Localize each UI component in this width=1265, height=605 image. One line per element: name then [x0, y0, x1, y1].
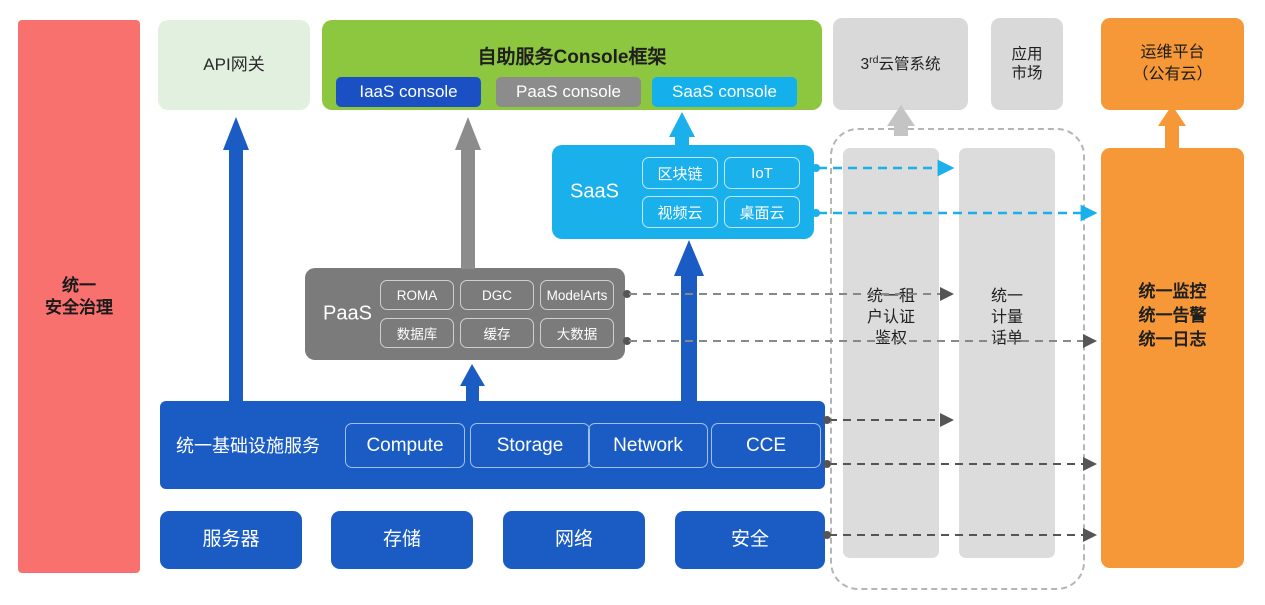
paas-item-dgc[interactable]: DGC	[460, 280, 534, 310]
paas-item-dgc-label: DGC	[482, 288, 512, 303]
saas-item-iot[interactable]: IoT	[724, 157, 800, 189]
infra-item-storage[interactable]: Storage	[470, 423, 590, 468]
app-market-label: 应用 市场	[1011, 45, 1042, 84]
saas-item-video-cloud[interactable]: 视频云	[642, 196, 718, 228]
third-party-cloud-mgmt-label: 3rd云管系统	[860, 54, 940, 75]
saas-block: SaaS 区块链 IoT 视频云 桌面云	[552, 145, 814, 239]
console-frame-title: 自助服务Console框架	[322, 42, 822, 69]
paas-item-cache[interactable]: 缓存	[460, 318, 534, 348]
resource-box-storage-label: 存储	[383, 528, 421, 552]
unified-infrastructure-bar: 统一基础设施服务 Compute Storage Network CCE	[160, 401, 825, 489]
third-party-cloud-mgmt-box: 3rd云管系统	[833, 18, 968, 110]
self-service-console-frame: 自助服务Console框架 IaaS console PaaS console …	[322, 20, 822, 110]
paas-item-bigdata[interactable]: 大数据	[540, 318, 614, 348]
ops-platform-box: 运维平台 （公有云）	[1101, 18, 1244, 110]
api-gateway-label: API网关	[203, 54, 264, 75]
resource-box-security-label: 安全	[731, 528, 769, 552]
resource-box-server-label: 服务器	[202, 528, 259, 552]
app-market-box: 应用 市场	[991, 18, 1063, 110]
unified-auth-label: 统一租 户认证 鉴权	[843, 286, 939, 349]
infra-item-cce[interactable]: CCE	[711, 423, 821, 468]
arrow-saas-to-saas-console	[669, 112, 695, 148]
ops-platform-label: 运维平台 （公有云）	[1132, 42, 1212, 85]
arrow-infra-to-saas	[674, 240, 704, 402]
resource-box-server[interactable]: 服务器	[160, 511, 302, 569]
ops-monitoring-label: 统一监控 统一告警 统一日志	[1101, 280, 1244, 351]
saas-item-video-cloud-label: 视频云	[657, 202, 702, 223]
paas-console-label: PaaS console	[516, 82, 621, 102]
infra-item-network[interactable]: Network	[588, 423, 708, 468]
paas-item-modelarts-label: ModelArts	[547, 288, 608, 303]
saas-block-label: SaaS	[570, 181, 619, 204]
paas-item-database[interactable]: 数据库	[380, 318, 454, 348]
resource-box-network[interactable]: 网络	[503, 511, 645, 569]
unified-billing-column: 统一 计量 话单	[959, 148, 1055, 558]
saas-item-blockchain[interactable]: 区块链	[642, 157, 718, 189]
security-governance-label: 统一 安全治理	[45, 275, 113, 318]
paas-console-chip[interactable]: PaaS console	[496, 77, 641, 107]
paas-block-label: PaaS	[323, 303, 372, 326]
third-party-suffix: 云管系统	[878, 56, 940, 73]
paas-item-cache-label: 缓存	[484, 323, 511, 343]
resource-box-storage[interactable]: 存储	[331, 511, 473, 569]
arrow-paas-to-console	[455, 117, 481, 269]
architecture-diagram: 统一 安全治理 API网关 自助服务Console框架 IaaS console…	[0, 0, 1265, 605]
saas-item-desktop-cloud-label: 桌面云	[739, 202, 784, 223]
arrow-monitoring-to-ops-platform	[1158, 105, 1186, 148]
resource-box-security[interactable]: 安全	[675, 511, 825, 569]
infra-item-cce-label: CCE	[746, 435, 786, 457]
resource-box-network-label: 网络	[555, 528, 593, 552]
unified-infrastructure-label: 统一基础设施服务	[176, 432, 320, 458]
paas-block: PaaS ROMA DGC ModelArts 数据库 缓存 大数据	[305, 268, 625, 360]
paas-item-modelarts[interactable]: ModelArts	[540, 280, 614, 310]
paas-item-bigdata-label: 大数据	[557, 323, 598, 343]
saas-item-iot-label: IoT	[751, 165, 773, 182]
infra-item-storage-label: Storage	[497, 435, 564, 457]
saas-item-blockchain-label: 区块链	[657, 163, 702, 184]
api-gateway-box: API网关	[158, 20, 310, 110]
iaas-console-chip[interactable]: IaaS console	[336, 77, 481, 107]
ops-monitoring-box: 统一监控 统一告警 统一日志	[1101, 148, 1244, 568]
security-governance-panel: 统一 安全治理	[18, 20, 140, 573]
paas-item-roma[interactable]: ROMA	[380, 280, 454, 310]
infra-item-network-label: Network	[613, 435, 683, 457]
unified-auth-column: 统一租 户认证 鉴权	[843, 148, 939, 558]
paas-item-roma-label: ROMA	[397, 288, 438, 303]
saas-item-desktop-cloud[interactable]: 桌面云	[724, 196, 800, 228]
paas-item-database-label: 数据库	[397, 323, 438, 343]
arrow-infra-to-paas	[460, 364, 485, 402]
arrow-infra-to-api-gateway	[223, 117, 249, 401]
iaas-console-label: IaaS console	[359, 82, 457, 102]
saas-console-label: SaaS console	[672, 82, 777, 102]
infra-item-compute[interactable]: Compute	[345, 423, 465, 468]
infra-item-compute-label: Compute	[366, 435, 443, 457]
third-party-prefix: 3	[860, 56, 869, 73]
unified-billing-label: 统一 计量 话单	[959, 286, 1055, 349]
saas-console-chip[interactable]: SaaS console	[652, 77, 797, 107]
